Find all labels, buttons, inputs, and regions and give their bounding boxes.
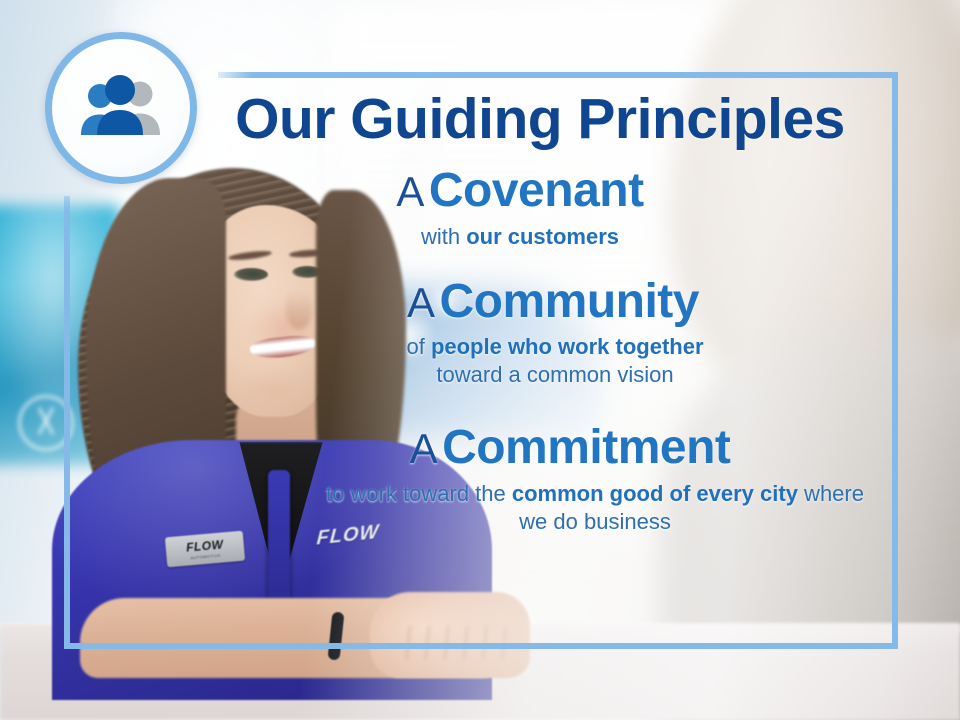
people-group-icon [75, 73, 167, 143]
principle-commitment: A Commitment to work toward the common g… [200, 423, 880, 536]
frame-border-left [64, 196, 70, 649]
principle-community: A Community of people who work togethert… [200, 277, 880, 390]
frame-border-bottom [64, 643, 898, 649]
principle-covenant: A Covenant with our customers [200, 166, 880, 251]
principle-keyword: Commitment [442, 421, 730, 474]
badge-circle [45, 32, 197, 184]
principle-heading: A Community [200, 277, 880, 327]
principle-article: A [407, 279, 435, 326]
principle-subtext: of people who work togethertoward a comm… [200, 333, 880, 389]
frame-border-top [218, 72, 898, 78]
principle-heading: A Commitment [200, 423, 880, 473]
principle-article: A [396, 168, 424, 215]
guiding-principles-banner: FLOW FLOW AUTOMOTIVE [0, 0, 960, 720]
text-content: Our Guiding Principles A Covenant with o… [200, 80, 880, 640]
principle-keyword: Covenant [429, 164, 644, 217]
frame-border-right [892, 72, 898, 649]
principle-keyword: Community [439, 275, 699, 328]
principle-subtext: with our customers [200, 223, 880, 251]
principle-article: A [410, 425, 438, 472]
page-title: Our Guiding Principles [200, 80, 880, 148]
principle-subtext: to work toward the common good of every … [200, 480, 880, 536]
principle-heading: A Covenant [200, 166, 880, 216]
